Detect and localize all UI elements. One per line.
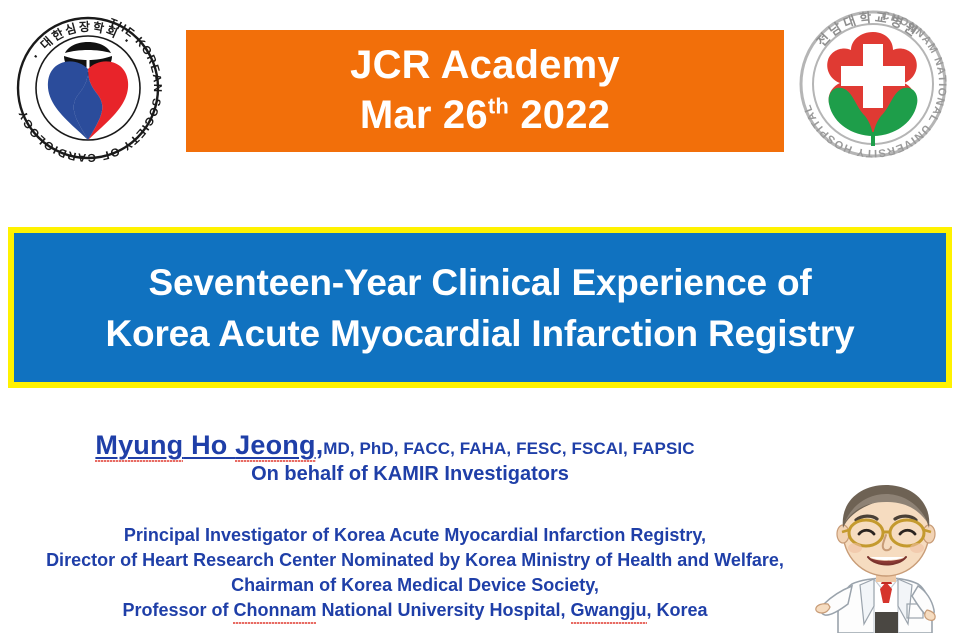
event-date: Mar 26th 2022 [360, 90, 610, 140]
affiliation-country: , Korea [647, 600, 708, 620]
korean-society-of-cardiology-logo: THE KOREAN SOCIETY OF CARDIOLOGY · 대한심장학… [6, 6, 170, 170]
event-date-year: 2022 [509, 93, 610, 137]
on-behalf-text: On behalf of KAMIR Investigators [251, 463, 569, 485]
author-given-name: Myung [95, 430, 183, 461]
author-middle-name: Ho [183, 430, 235, 460]
affiliation-institution-name: Chonnam [233, 598, 316, 623]
author-line: Myung Ho Jeong,MD, PhD, FACC, FAHA, FESC… [0, 430, 790, 461]
chonnam-national-university-hospital-logo: CHONNAM NATIONAL UNIVERSITY HOSPITAL 전남대… [793, 4, 953, 164]
event-date-prefix: Mar 26 [360, 93, 488, 137]
affiliation-city: Gwangju [571, 598, 647, 623]
event-date-ordinal-suffix: th [488, 94, 509, 119]
affiliation-line-4: Professor of Chonnam National University… [0, 598, 830, 623]
affiliation-line-1: Principal Investigator of Korea Acute My… [0, 523, 830, 548]
affiliation-line-2: Director of Heart Research Center Nomina… [0, 548, 830, 573]
speaker-caricature [812, 472, 960, 633]
affiliation-line-3: Chairman of Korea Medical Device Society… [0, 573, 830, 598]
presentation-title-line-1: Seventeen-Year Clinical Experience of [148, 257, 811, 308]
affiliation-role-prefix: Professor of [122, 600, 233, 620]
affiliation-institution-rest: National University Hospital, [316, 600, 570, 620]
on-behalf-line: On behalf of KAMIR Investigators [0, 463, 820, 486]
event-header-banner: JCR Academy Mar 26th 2022 [186, 30, 784, 152]
author-family-name: Jeong [235, 430, 316, 461]
affiliations-block: Principal Investigator of Korea Acute My… [0, 523, 830, 623]
event-name: JCR Academy [350, 40, 620, 90]
presentation-title-box: Seventeen-Year Clinical Experience of Ko… [8, 227, 952, 388]
presentation-title-line-2: Korea Acute Myocardial Infarction Regist… [106, 308, 855, 359]
author-credentials: MD, PhD, FACC, FAHA, FESC, FSCAI, FAPSIC [323, 439, 694, 458]
